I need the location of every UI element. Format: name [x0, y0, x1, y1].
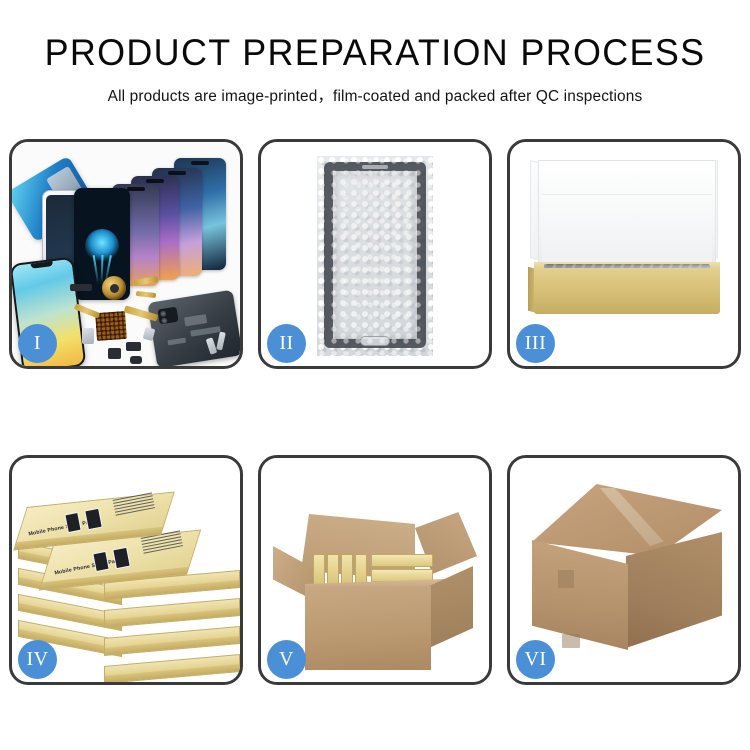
phone-notch-icon	[191, 161, 209, 165]
step-panel-5[interactable]: V	[258, 455, 492, 685]
chip-part	[184, 314, 207, 326]
step-badge-5: V	[267, 640, 306, 679]
step-panel-6[interactable]: VI	[507, 455, 741, 685]
earpiece-speaker-icon	[362, 165, 388, 169]
step-badge-6: VI	[516, 640, 555, 679]
step-badge-4: IV	[18, 640, 57, 679]
step-badge-2: II	[267, 324, 306, 363]
phone-back-housing	[147, 290, 240, 366]
phone-notch-icon	[168, 171, 186, 175]
chip-part	[167, 338, 186, 346]
box-edge	[105, 580, 239, 599]
small-part	[130, 356, 142, 364]
metal-bracket-part	[82, 328, 94, 344]
wrapped-phone-screen	[324, 162, 426, 348]
step-panel-3[interactable]: III	[507, 139, 741, 369]
retail-box	[104, 654, 240, 682]
phone-notch-icon	[31, 261, 53, 269]
process-row-bottom: Mobile Phone Spare Parts Mobile Phone Sp…	[0, 455, 750, 685]
small-part	[126, 342, 141, 351]
chip-part	[190, 326, 221, 337]
component-mesh-tray	[95, 311, 127, 341]
step-panel-4[interactable]: Mobile Phone Spare Parts Mobile Phone Sp…	[9, 455, 243, 685]
speaker-coil-part	[102, 276, 126, 300]
step-panel-2[interactable]: II	[258, 139, 492, 369]
step-panel-1[interactable]: I	[9, 139, 243, 369]
phone-notch-icon	[127, 187, 145, 191]
page-title: PRODUCT PREPARATION PROCESS	[11, 34, 739, 73]
home-button-icon	[360, 336, 390, 346]
step-badge-3: III	[516, 324, 555, 363]
carton-hand-slot	[562, 634, 580, 648]
retail-box	[104, 598, 240, 628]
box-edge	[105, 608, 239, 627]
inner-box	[371, 554, 433, 567]
retail-box	[104, 626, 240, 656]
process-grid: I II	[0, 139, 750, 685]
kraft-box-body	[534, 268, 720, 314]
small-part	[70, 284, 92, 291]
box-edge	[105, 664, 239, 682]
page-subtitle: All products are image-printed，film-coat…	[0, 84, 750, 106]
carton-front-face	[305, 586, 431, 670]
step-badge-1: I	[18, 324, 57, 363]
header: PRODUCT PREPARATION PROCESS All products…	[0, 0, 750, 106]
carton-hand-slot	[558, 570, 574, 588]
box-edge	[105, 636, 239, 655]
process-row-top: I II	[0, 139, 750, 369]
coil-center	[110, 284, 119, 293]
small-part	[108, 348, 121, 359]
phone-notch-icon	[146, 179, 164, 183]
